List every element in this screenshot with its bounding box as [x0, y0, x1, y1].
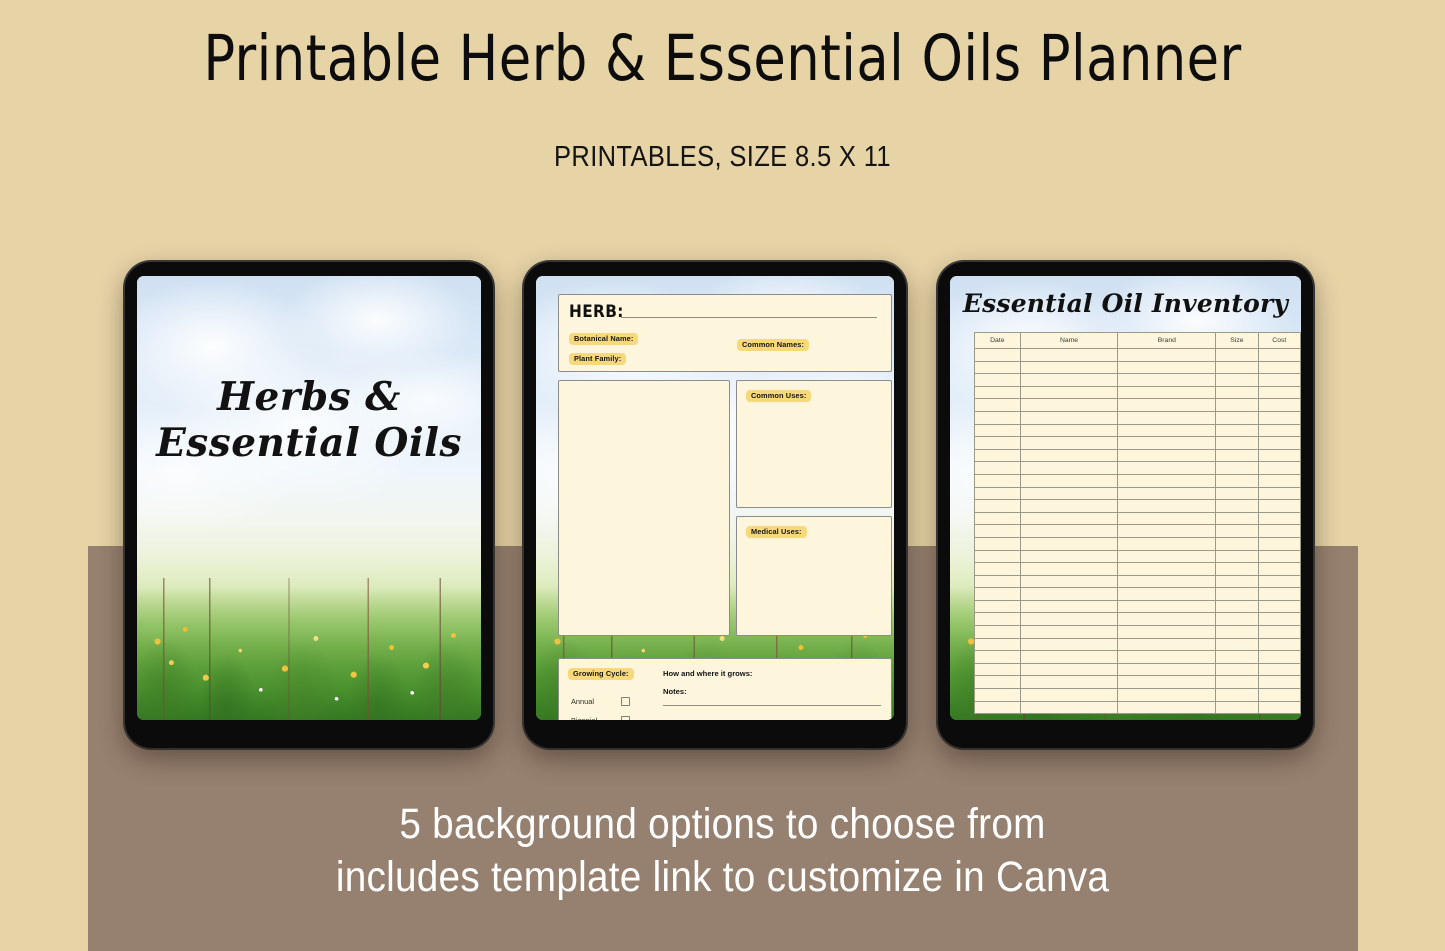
inventory-cell-brand[interactable]: [1118, 663, 1216, 676]
inventory-cell-cost[interactable]: [1258, 500, 1300, 513]
table-row[interactable]: [975, 462, 1301, 475]
inventory-cell-size[interactable]: [1216, 626, 1258, 639]
inventory-cell-cost[interactable]: [1258, 361, 1300, 374]
inventory-cell-size[interactable]: [1216, 600, 1258, 613]
inventory-cell-date[interactable]: [975, 600, 1021, 613]
inventory-cell-name[interactable]: [1020, 449, 1118, 462]
table-row[interactable]: [975, 689, 1301, 702]
inventory-cell-size[interactable]: [1216, 487, 1258, 500]
inventory-cell-name[interactable]: [1020, 689, 1118, 702]
inventory-cell-date[interactable]: [975, 349, 1021, 362]
inventory-cell-cost[interactable]: [1258, 651, 1300, 664]
inventory-cell-name[interactable]: [1020, 651, 1118, 664]
inventory-cell-cost[interactable]: [1258, 563, 1300, 576]
table-row[interactable]: [975, 386, 1301, 399]
inventory-cell-date[interactable]: [975, 588, 1021, 601]
inventory-cell-size[interactable]: [1216, 663, 1258, 676]
checkbox-annual[interactable]: [621, 697, 630, 706]
inventory-cell-brand[interactable]: [1118, 689, 1216, 702]
inventory-column-header-date: Date: [975, 333, 1021, 349]
inventory-cell-date[interactable]: [975, 386, 1021, 399]
inventory-cell-cost[interactable]: [1258, 487, 1300, 500]
inventory-cell-date[interactable]: [975, 462, 1021, 475]
inventory-cell-date[interactable]: [975, 399, 1021, 412]
inventory-cell-name[interactable]: [1020, 626, 1118, 639]
inventory-cell-date[interactable]: [975, 437, 1021, 450]
checkbox-biennial[interactable]: [621, 716, 630, 720]
herb-header-box: HERB: Botanical Name: Common Names: Plan…: [558, 294, 892, 372]
herb-medical-uses-box[interactable]: Medical Uses:: [736, 516, 892, 636]
inventory-cell-name[interactable]: [1020, 462, 1118, 475]
inventory-cell-size[interactable]: [1216, 537, 1258, 550]
inventory-header-row: DateNameBrandSizeCost: [975, 333, 1301, 349]
inventory-cell-brand[interactable]: [1118, 411, 1216, 424]
inventory-cell-name[interactable]: [1020, 600, 1118, 613]
inventory-cell-brand[interactable]: [1118, 676, 1216, 689]
table-row[interactable]: [975, 575, 1301, 588]
inventory-cell-date[interactable]: [975, 651, 1021, 664]
inventory-cell-brand[interactable]: [1118, 613, 1216, 626]
inventory-cell-size[interactable]: [1216, 689, 1258, 702]
table-row[interactable]: [975, 474, 1301, 487]
table-row[interactable]: [975, 701, 1301, 714]
inventory-column-header-size: Size: [1216, 333, 1258, 349]
inventory-cell-date[interactable]: [975, 474, 1021, 487]
inventory-cell-size[interactable]: [1216, 374, 1258, 387]
inventory-cell-brand[interactable]: [1118, 449, 1216, 462]
inventory-table-head: DateNameBrandSizeCost: [975, 333, 1301, 349]
inventory-cell-brand[interactable]: [1118, 512, 1216, 525]
label-common-uses: Common Uses:: [746, 390, 811, 402]
inventory-cell-size[interactable]: [1216, 676, 1258, 689]
inventory-table[interactable]: DateNameBrandSizeCost: [974, 332, 1301, 714]
inventory-cell-size[interactable]: [1216, 550, 1258, 563]
table-row[interactable]: [975, 487, 1301, 500]
inventory-cell-size[interactable]: [1216, 525, 1258, 538]
inventory-cell-name[interactable]: [1020, 361, 1118, 374]
inventory-cell-name[interactable]: [1020, 676, 1118, 689]
inventory-cell-size[interactable]: [1216, 512, 1258, 525]
herb-name-input-line[interactable]: [621, 317, 877, 318]
label-medical-uses: Medical Uses:: [746, 526, 807, 538]
inventory-cell-cost[interactable]: [1258, 663, 1300, 676]
label-plant-family: Plant Family:: [569, 353, 626, 365]
inventory-cell-brand[interactable]: [1118, 487, 1216, 500]
cover-title-line-2: Essential Oils: [137, 420, 481, 466]
inventory-cell-date[interactable]: [975, 638, 1021, 651]
inventory-cell-size[interactable]: [1216, 613, 1258, 626]
inventory-cell-date[interactable]: [975, 676, 1021, 689]
inventory-cell-brand[interactable]: [1118, 563, 1216, 576]
inventory-cell-date[interactable]: [975, 626, 1021, 639]
inventory-cell-brand[interactable]: [1118, 638, 1216, 651]
inventory-cell-cost[interactable]: [1258, 626, 1300, 639]
page-title: Printable Herb & Essential Oils Planner: [51, 22, 1395, 95]
inventory-cell-cost[interactable]: [1258, 399, 1300, 412]
table-row[interactable]: [975, 411, 1301, 424]
inventory-cell-size[interactable]: [1216, 386, 1258, 399]
inventory-cell-cost[interactable]: [1258, 512, 1300, 525]
inventory-cell-brand[interactable]: [1118, 424, 1216, 437]
inventory-cell-name[interactable]: [1020, 411, 1118, 424]
inventory-cell-date[interactable]: [975, 701, 1021, 714]
inventory-cell-name[interactable]: [1020, 613, 1118, 626]
cycle-label-biennial: Biennial: [571, 716, 611, 720]
poster-stage: Printable Herb & Essential Oils Planner …: [0, 0, 1445, 951]
inventory-cell-name[interactable]: [1020, 638, 1118, 651]
inventory-cell-size[interactable]: [1216, 500, 1258, 513]
inventory-cell-name[interactable]: [1020, 588, 1118, 601]
table-row[interactable]: [975, 651, 1301, 664]
inventory-cell-date[interactable]: [975, 374, 1021, 387]
tablet-inventory[interactable]: Essential Oil Inventory DateNameBrandSiz…: [938, 262, 1313, 748]
inventory-cell-date[interactable]: [975, 487, 1021, 500]
inventory-cell-size[interactable]: [1216, 638, 1258, 651]
table-row[interactable]: [975, 512, 1301, 525]
inventory-cell-date[interactable]: [975, 613, 1021, 626]
label-botanical-name: Botanical Name:: [569, 333, 638, 345]
inventory-cell-date[interactable]: [975, 449, 1021, 462]
inventory-cell-brand[interactable]: [1118, 626, 1216, 639]
inventory-cell-size[interactable]: [1216, 361, 1258, 374]
flowers-art: [137, 569, 481, 720]
inventory-cell-date[interactable]: [975, 563, 1021, 576]
inventory-cell-cost[interactable]: [1258, 701, 1300, 714]
notes-line-1[interactable]: [663, 705, 881, 706]
inventory-cell-size[interactable]: [1216, 411, 1258, 424]
inventory-cell-cost[interactable]: [1258, 613, 1300, 626]
inventory-cell-name[interactable]: [1020, 349, 1118, 362]
inventory-cell-name[interactable]: [1020, 424, 1118, 437]
cover-title: Herbs & Essential Oils: [137, 374, 481, 466]
inventory-cell-cost[interactable]: [1258, 537, 1300, 550]
inventory-cell-date[interactable]: [975, 537, 1021, 550]
label-common-names: Common Names:: [737, 339, 809, 351]
inventory-cell-size[interactable]: [1216, 588, 1258, 601]
inventory-cell-brand[interactable]: [1118, 374, 1216, 387]
table-row[interactable]: [975, 361, 1301, 374]
table-row[interactable]: [975, 437, 1301, 450]
inventory-cell-cost[interactable]: [1258, 437, 1300, 450]
herb-form-paper: HERB: Botanical Name: Common Names: Plan…: [536, 276, 894, 720]
poster-header: Printable Herb & Essential Oils Planner …: [0, 0, 1445, 174]
inventory-cell-size[interactable]: [1216, 462, 1258, 475]
inventory-cell-cost[interactable]: [1258, 588, 1300, 601]
inventory-cell-size[interactable]: [1216, 563, 1258, 576]
inventory-cell-brand[interactable]: [1118, 701, 1216, 714]
inventory-cell-name[interactable]: [1020, 563, 1118, 576]
tablet-cover-screen: Herbs & Essential Oils: [137, 276, 481, 720]
tablet-inventory-screen: Essential Oil Inventory DateNameBrandSiz…: [950, 276, 1301, 720]
inventory-cell-date[interactable]: [975, 424, 1021, 437]
inventory-cell-cost[interactable]: [1258, 449, 1300, 462]
table-row[interactable]: [975, 424, 1301, 437]
inventory-cell-size[interactable]: [1216, 449, 1258, 462]
inventory-cell-name[interactable]: [1020, 474, 1118, 487]
inventory-cell-name[interactable]: [1020, 374, 1118, 387]
inventory-cell-size[interactable]: [1216, 701, 1258, 714]
inventory-cell-cost[interactable]: [1258, 411, 1300, 424]
inventory-cell-cost[interactable]: [1258, 374, 1300, 387]
inventory-table-body[interactable]: [975, 349, 1301, 714]
inventory-column-header-cost: Cost: [1258, 333, 1300, 349]
inventory-cell-date[interactable]: [975, 525, 1021, 538]
inventory-cell-brand[interactable]: [1118, 651, 1216, 664]
inventory-cell-date[interactable]: [975, 361, 1021, 374]
table-row[interactable]: [975, 399, 1301, 412]
cycle-option-biennial[interactable]: Biennial: [571, 716, 630, 720]
inventory-cell-name[interactable]: [1020, 437, 1118, 450]
cover-title-line-1: Herbs &: [217, 374, 401, 420]
inventory-cell-cost[interactable]: [1258, 638, 1300, 651]
label-growing-cycle: Growing Cycle:: [568, 668, 634, 680]
herb-description-box[interactable]: [558, 380, 730, 636]
inventory-cell-date[interactable]: [975, 575, 1021, 588]
table-row[interactable]: [975, 537, 1301, 550]
footer-line-1: 5 background options to choose from: [72, 798, 1373, 851]
inventory-cell-size[interactable]: [1216, 349, 1258, 362]
inventory-cell-name[interactable]: [1020, 512, 1118, 525]
inventory-cell-name[interactable]: [1020, 525, 1118, 538]
inventory-cell-brand[interactable]: [1118, 550, 1216, 563]
inventory-cell-brand[interactable]: [1118, 349, 1216, 362]
inventory-cell-date[interactable]: [975, 663, 1021, 676]
table-row[interactable]: [975, 613, 1301, 626]
inventory-cell-brand[interactable]: [1118, 525, 1216, 538]
cycle-label-annual: Annual: [571, 697, 611, 706]
table-row[interactable]: [975, 588, 1301, 601]
inventory-cell-size[interactable]: [1216, 437, 1258, 450]
inventory-cell-cost[interactable]: [1258, 349, 1300, 362]
inventory-cell-cost[interactable]: [1258, 676, 1300, 689]
inventory-cell-brand[interactable]: [1118, 588, 1216, 601]
label-how-and-where-it-grows: How and where it grows:: [663, 669, 752, 678]
table-row[interactable]: [975, 676, 1301, 689]
label-notes: Notes:: [663, 687, 687, 696]
inventory-column-header-brand: Brand: [1118, 333, 1216, 349]
inventory-cell-cost[interactable]: [1258, 474, 1300, 487]
herb-page-title: HERB:: [569, 302, 624, 322]
inventory-cell-cost[interactable]: [1258, 424, 1300, 437]
inventory-cell-cost[interactable]: [1258, 689, 1300, 702]
inventory-cell-brand[interactable]: [1118, 462, 1216, 475]
inventory-cell-name[interactable]: [1020, 487, 1118, 500]
table-row[interactable]: [975, 449, 1301, 462]
inventory-cell-name[interactable]: [1020, 537, 1118, 550]
table-row[interactable]: [975, 638, 1301, 651]
table-row[interactable]: [975, 374, 1301, 387]
inventory-cell-name[interactable]: [1020, 386, 1118, 399]
inventory-cell-brand[interactable]: [1118, 361, 1216, 374]
inventory-cell-cost[interactable]: [1258, 462, 1300, 475]
footer-line-2: includes template link to customize in C…: [72, 851, 1373, 904]
inventory-cell-size[interactable]: [1216, 651, 1258, 664]
inventory-cell-date[interactable]: [975, 512, 1021, 525]
inventory-cell-name[interactable]: [1020, 575, 1118, 588]
footer-text: 5 background options to choose from incl…: [72, 798, 1373, 905]
inventory-cell-brand[interactable]: [1118, 537, 1216, 550]
inventory-cell-date[interactable]: [975, 550, 1021, 563]
table-row[interactable]: [975, 525, 1301, 538]
herb-growing-cycle-box: Growing Cycle: How and where it grows: N…: [558, 658, 892, 720]
table-row[interactable]: [975, 600, 1301, 613]
inventory-cell-name[interactable]: [1020, 663, 1118, 676]
inventory-cell-date[interactable]: [975, 500, 1021, 513]
inventory-cell-cost[interactable]: [1258, 525, 1300, 538]
table-row[interactable]: [975, 550, 1301, 563]
tablet-herb-form[interactable]: HERB: Botanical Name: Common Names: Plan…: [524, 262, 906, 748]
inventory-cell-cost[interactable]: [1258, 575, 1300, 588]
table-row[interactable]: [975, 349, 1301, 362]
inventory-cell-name[interactable]: [1020, 701, 1118, 714]
inventory-column-header-name: Name: [1020, 333, 1118, 349]
cycle-option-annual[interactable]: Annual: [571, 697, 630, 706]
inventory-cell-brand[interactable]: [1118, 437, 1216, 450]
inventory-cell-size[interactable]: [1216, 399, 1258, 412]
inventory-cell-brand[interactable]: [1118, 474, 1216, 487]
herb-common-uses-box[interactable]: Common Uses:: [736, 380, 892, 508]
table-row[interactable]: [975, 563, 1301, 576]
inventory-cell-brand[interactable]: [1118, 399, 1216, 412]
tablet-herb-screen: HERB: Botanical Name: Common Names: Plan…: [536, 276, 894, 720]
inventory-cell-cost[interactable]: [1258, 550, 1300, 563]
table-row[interactable]: [975, 626, 1301, 639]
inventory-cell-brand[interactable]: [1118, 386, 1216, 399]
table-row[interactable]: [975, 500, 1301, 513]
inventory-page-title: Essential Oil Inventory: [950, 289, 1301, 318]
page-subtitle: PRINTABLES, SIZE 8.5 X 11: [87, 141, 1359, 174]
inventory-cell-name[interactable]: [1020, 550, 1118, 563]
inventory-cell-name[interactable]: [1020, 399, 1118, 412]
table-row[interactable]: [975, 663, 1301, 676]
inventory-cell-size[interactable]: [1216, 474, 1258, 487]
inventory-cell-cost[interactable]: [1258, 386, 1300, 399]
inventory-cell-date[interactable]: [975, 689, 1021, 702]
inventory-cell-cost[interactable]: [1258, 600, 1300, 613]
inventory-cell-brand[interactable]: [1118, 575, 1216, 588]
inventory-cell-size[interactable]: [1216, 575, 1258, 588]
inventory-cell-name[interactable]: [1020, 500, 1118, 513]
tablet-cover[interactable]: Herbs & Essential Oils: [125, 262, 493, 748]
inventory-cell-size[interactable]: [1216, 424, 1258, 437]
inventory-cell-brand[interactable]: [1118, 500, 1216, 513]
inventory-cell-brand[interactable]: [1118, 600, 1216, 613]
inventory-cell-date[interactable]: [975, 411, 1021, 424]
